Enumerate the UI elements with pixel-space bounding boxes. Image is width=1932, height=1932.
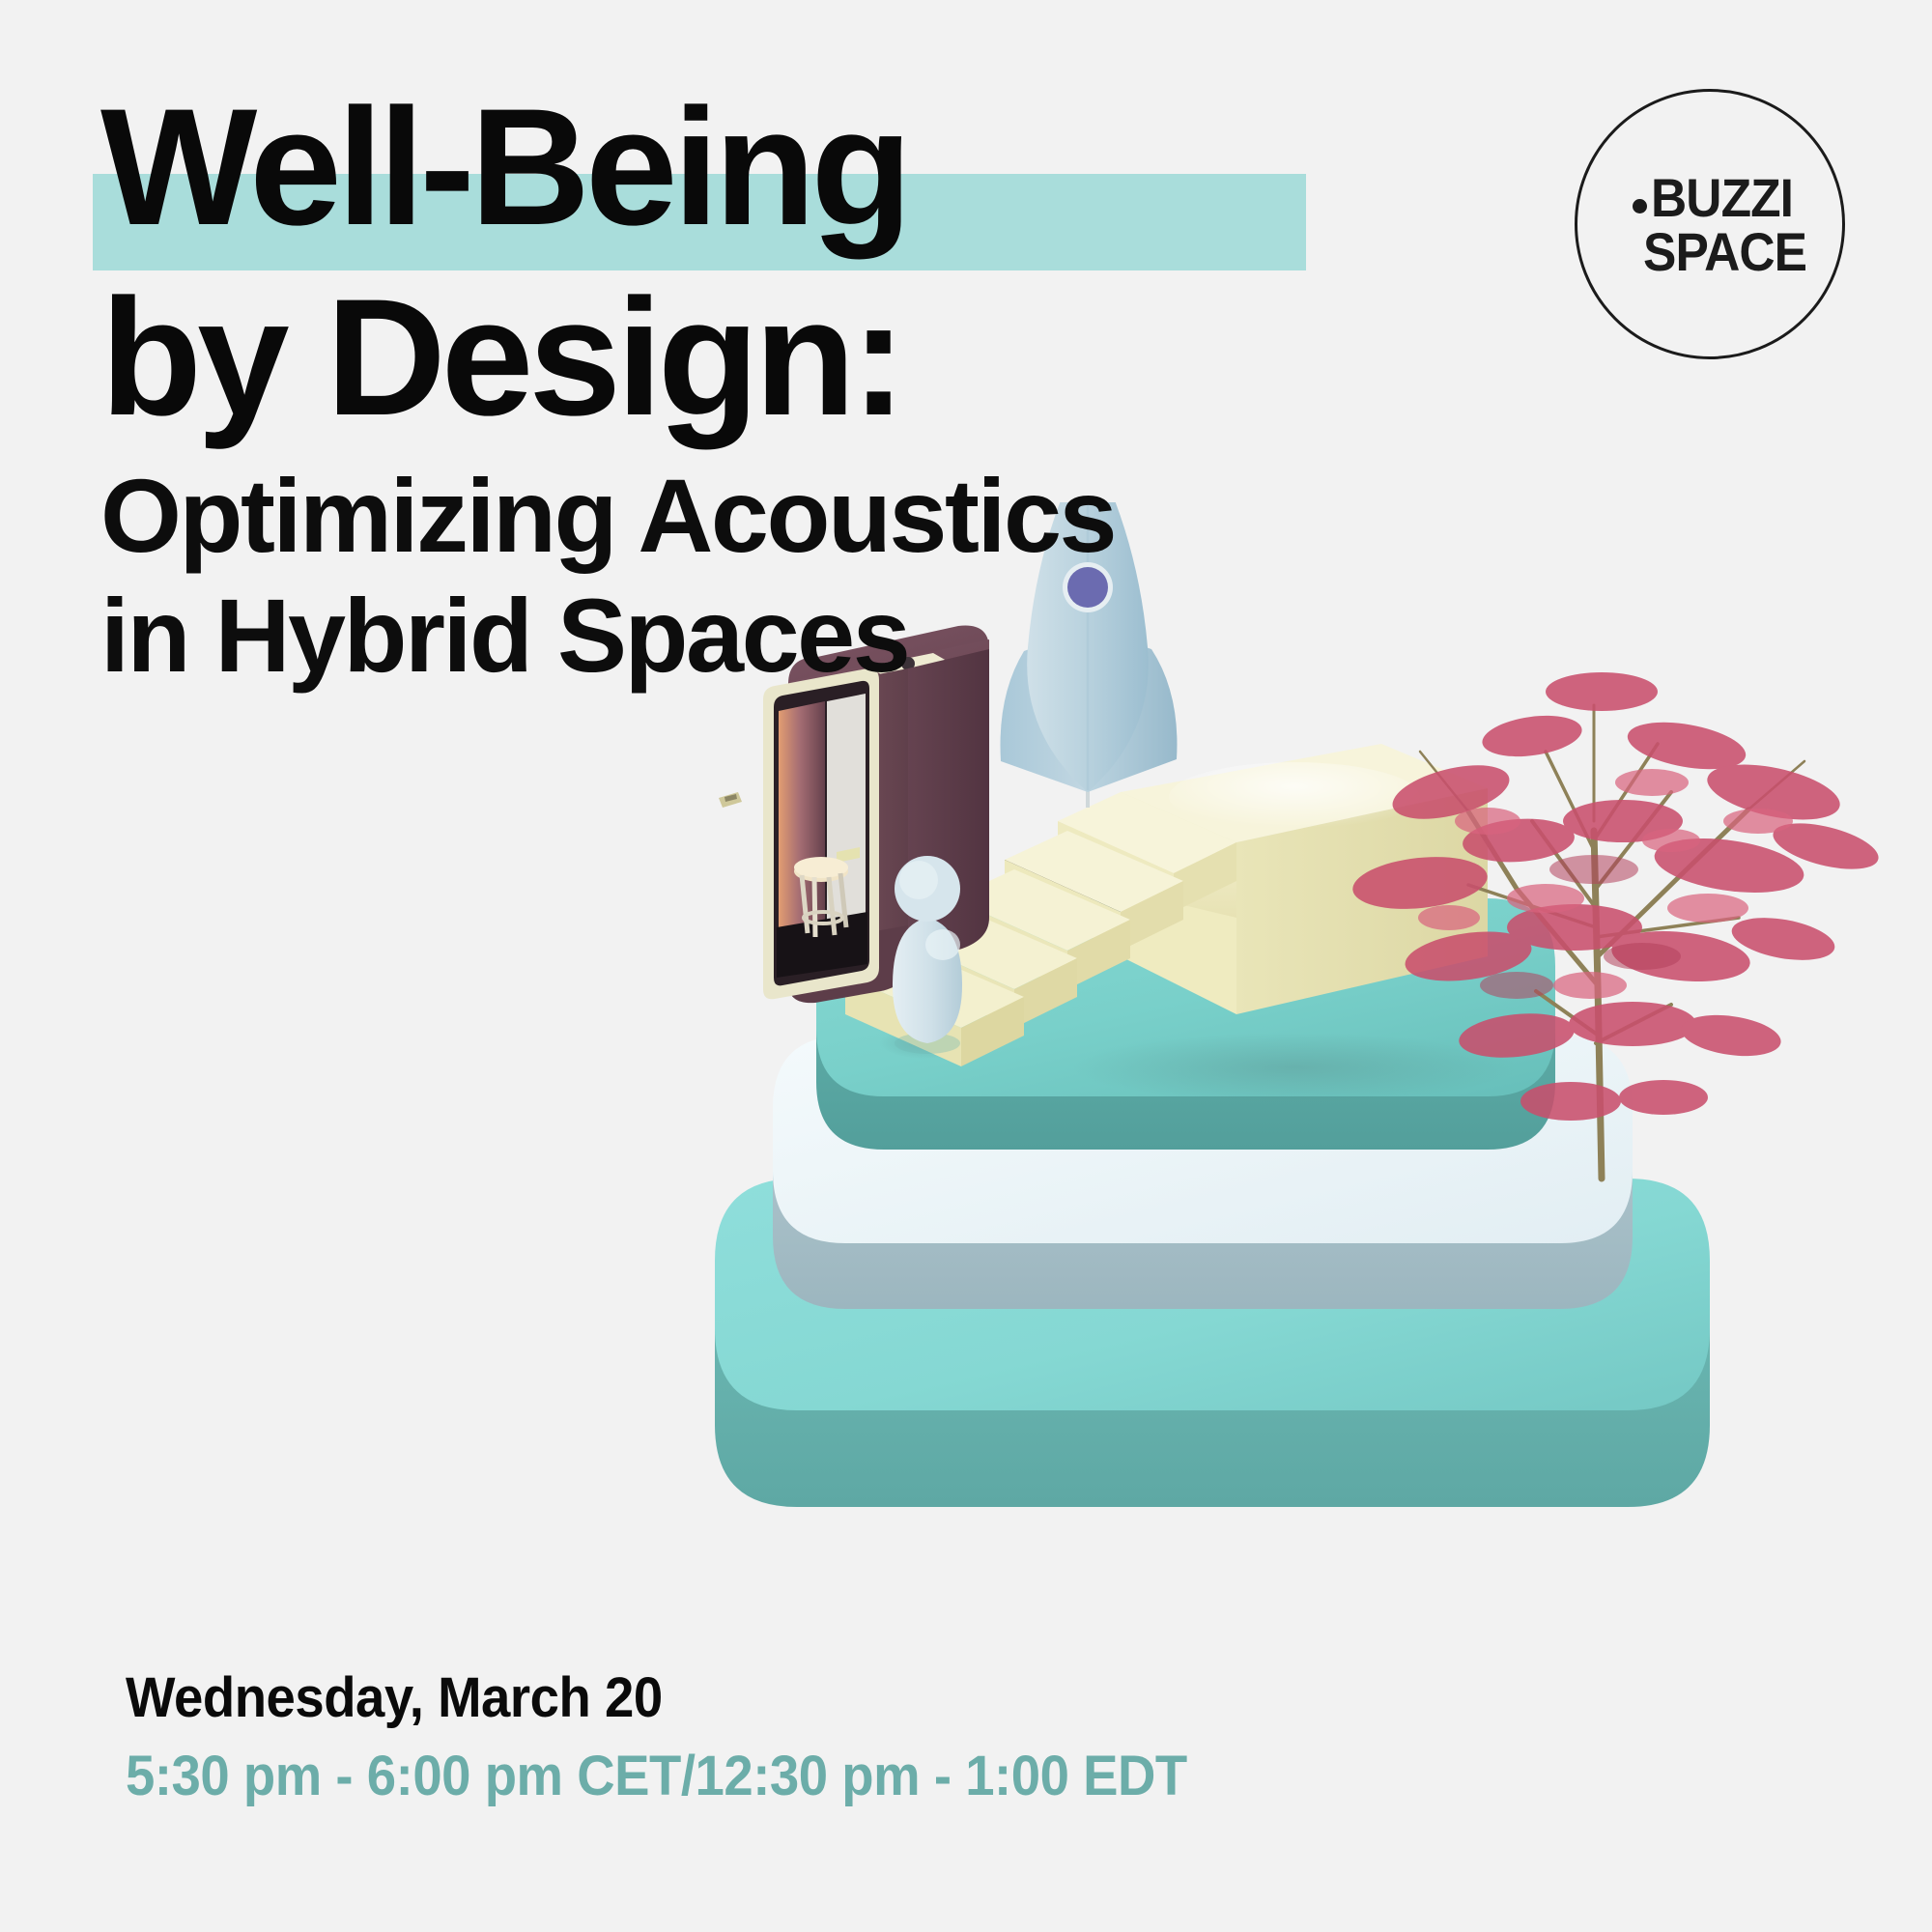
poster-canvas: Well-Being by Design: Optimizing Acousti… (0, 0, 1932, 1932)
buzzispace-logo: BUZZI SPACE (1575, 89, 1845, 359)
page-subtitle: Optimizing Acoustics in Hybrid Spaces (100, 456, 1395, 696)
page-title-line1: Well-Being (100, 81, 1395, 253)
stairs-shadow (1072, 1033, 1517, 1102)
page-subtitle-line1: Optimizing Acoustics (100, 456, 1395, 576)
logo-inner: BUZZI SPACE (1577, 92, 1842, 356)
event-time: 5:30 pm - 6:00 pm CET/12:30 pm - 1:00 ED… (126, 1745, 1187, 1808)
logo-dot-icon (1633, 199, 1647, 213)
page-title-line2: by Design: (100, 274, 1395, 440)
illustration-3d-scene (618, 502, 1932, 1816)
event-date: Wednesday, March 20 (126, 1665, 1187, 1731)
wall-plaque (719, 792, 742, 808)
title-line1-wrapper: Well-Being (100, 81, 1395, 270)
logo-text-space: SPACE (1643, 225, 1806, 279)
title-block: Well-Being by Design: Optimizing Acousti… (100, 81, 1395, 696)
logo-text-buzzi: BUZZI (1651, 171, 1793, 225)
figurine (893, 856, 962, 1054)
event-details: Wednesday, March 20 5:30 pm - 6:00 pm CE… (126, 1665, 1255, 1808)
page-subtitle-line2: in Hybrid Spaces (100, 576, 1395, 696)
